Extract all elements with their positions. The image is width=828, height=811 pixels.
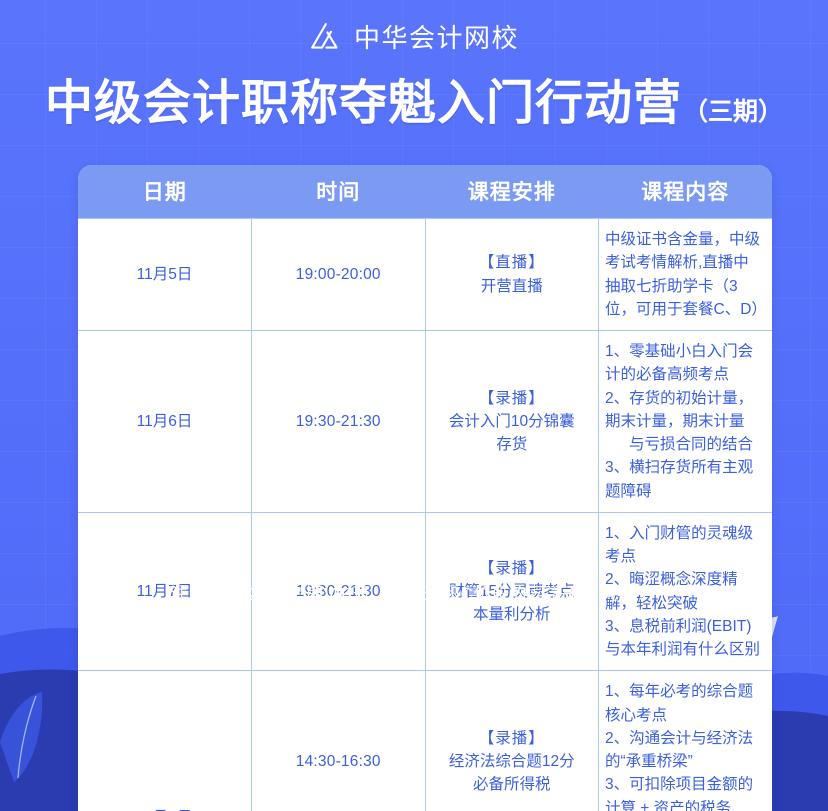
cell-course-plan: 【录播】经济法综合题12分必备所得税 xyxy=(425,671,599,811)
cell-course-content: 1、零基础小白入门会计的必备高频考点2、存货的初始计量，期末计量，期末计量与亏损… xyxy=(599,331,773,513)
brand-name: 中华会计网校 xyxy=(354,25,519,51)
cell-course-plan: 【直播】开营直播 xyxy=(425,219,599,331)
cell-course-content: 中级证书含金量，中级考试考情解析,直播中抽取七折助学卡（3位，可用于套餐C、D） xyxy=(599,219,773,331)
course-type-label: 【录播】 xyxy=(432,727,593,750)
page-title: 中级会计职称夺魁入门行动营 （三期） xyxy=(0,80,828,128)
title-suffix-text: （三期） xyxy=(683,100,783,128)
course-type-label: 【录播】 xyxy=(432,387,593,410)
cell-date: 11月5日 xyxy=(78,219,252,331)
table-body: 11月5日19:00-20:00【直播】开营直播中级证书含金量，中级考试考情解析… xyxy=(78,219,772,811)
table-row: 11月8日14:30-16:30【录播】经济法综合题12分必备所得税1、每年必考… xyxy=(78,671,772,811)
schedule-table-container: 日期 时间 课程安排 课程内容 11月5日19:00-20:00【直播】开营直播… xyxy=(78,165,772,811)
column-header-time: 时间 xyxy=(252,165,426,219)
brand-logo: 中华会计网校 xyxy=(0,18,828,58)
course-content-line: 3、横扫存货所有主观题障碍 xyxy=(605,456,766,503)
course-type-label: 【直播】 xyxy=(432,251,593,274)
course-content-line: 3、可扣除项目金额的计算 + 资产的税务 xyxy=(605,773,766,811)
course-content-line: 中级证书含金量，中级考试考情解析,直播中 xyxy=(605,228,766,275)
cell-date: 11月6日 xyxy=(78,331,252,513)
course-plan-line: 存货 xyxy=(432,433,593,456)
course-content-line: 1、零基础小白入门会计的必备高频考点 xyxy=(605,340,766,387)
cell-time: 14:30-16:30 xyxy=(252,671,426,811)
schedule-table: 日期 时间 课程安排 课程内容 11月5日19:00-20:00【直播】开营直播… xyxy=(78,165,772,811)
column-header-date: 日期 xyxy=(78,165,252,219)
course-plan-line: 必备所得税 xyxy=(432,773,593,796)
cell-course-content: 1、每年必考的综合题核心考点2、沟通会计与经济法的“承重桥梁”3、可扣除项目金额… xyxy=(599,671,773,811)
course-plan-line: 会计入门10分锦囊 xyxy=(432,410,593,433)
course-content-line: 1、入门财管的灵魂级考点 xyxy=(605,522,766,569)
course-content-line: 2、存货的初始计量，期末计量，期末计量 xyxy=(605,387,766,434)
course-plan-line: 开营直播 xyxy=(432,275,593,298)
mountain-logo-icon xyxy=(309,21,343,56)
table-head: 日期 时间 课程安排 课程内容 xyxy=(78,165,772,219)
cell-date: 11月8日 xyxy=(78,671,252,811)
cell-time: 19:30-21:30 xyxy=(252,331,426,513)
course-content-line: 1、每年必考的综合题核心考点 xyxy=(605,680,766,727)
course-plan-line: 经济法综合题12分 xyxy=(432,750,593,773)
course-type-label: 【录播】 xyxy=(432,557,593,580)
column-header-plan: 课程安排 xyxy=(425,165,599,219)
cell-course-plan: 【录播】会计入门10分锦囊存货 xyxy=(425,331,599,513)
course-content-line: 抽取七折助学卡（3位，可用于套餐C、D） xyxy=(605,275,766,322)
promo-poster: 中华会计网校 中级会计职称夺魁入门行动营 （三期） 日期 时间 课程安排 课程内… xyxy=(0,0,828,811)
table-row: 11月5日19:00-20:00【直播】开营直播中级证书含金量，中级考试考情解析… xyxy=(78,219,772,331)
column-header-content: 课程内容 xyxy=(599,165,773,219)
course-content-line: 与亏损合同的结合 xyxy=(605,433,766,456)
table-header-row: 日期 时间 课程安排 课程内容 xyxy=(78,165,772,219)
cell-time: 19:00-20:00 xyxy=(252,219,426,331)
course-content-line: 3、息税前利润(EBIT)与本年利润有什么区别 xyxy=(605,615,766,662)
table-row: 11月6日19:30-21:30【录播】会计入门10分锦囊存货1、零基础小白入门… xyxy=(78,331,772,513)
title-main-text: 中级会计职称夺魁入门行动营 xyxy=(45,80,682,128)
course-content-line: 2、沟通会计与经济法的“承重桥梁” xyxy=(605,727,766,774)
purchase-note: 注:已购买2021考期VIP班、无忧班和C位班的同学无须购买 。 xyxy=(0,581,828,606)
course-plan-line: 本量利分析 xyxy=(432,603,593,626)
